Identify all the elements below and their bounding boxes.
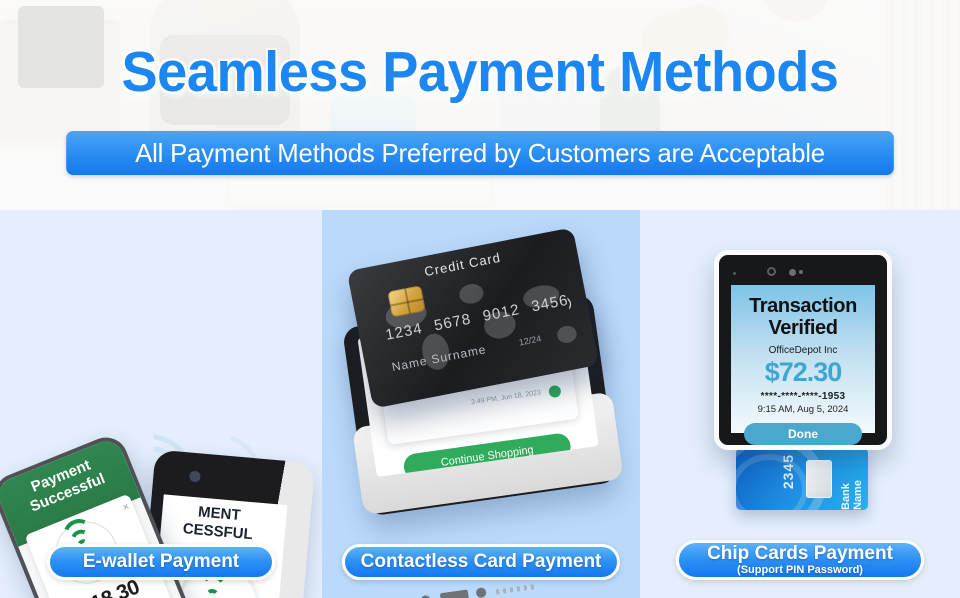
pill-label: E-wallet Payment xyxy=(83,551,239,573)
transaction-timestamp: 9:15 AM, Aug 5, 2024 xyxy=(731,404,875,415)
e-wallet-illustration: MENT CESSFUL NFC Payment xyxy=(0,210,322,598)
merchant-name: OfficeDepot Inc xyxy=(731,345,875,356)
payment-methods-banner: Seamless Payment Methods All Payment Met… xyxy=(0,0,960,598)
contactless-icon xyxy=(554,295,573,314)
pill-label: Contactless Card Payment xyxy=(361,551,602,573)
amount: $72.30 xyxy=(731,357,875,388)
sensor-icon xyxy=(799,270,803,274)
pill-sublabel: (Support PIN Password) xyxy=(737,564,863,577)
panel-chip-cards: 2345 Bank Name Transaction Verified Offi… xyxy=(640,210,960,598)
page-title: Seamless Payment Methods xyxy=(24,40,936,104)
chip-bank-card: 2345 Bank Name xyxy=(736,448,868,510)
hero-overlay xyxy=(0,0,960,210)
bank-name-label: Bank Name xyxy=(840,452,864,510)
done-button[interactable]: Done xyxy=(744,423,862,445)
camera-icon xyxy=(767,267,776,276)
hero-subtitle-bar: All Payment Methods Preferred by Custome… xyxy=(66,131,894,175)
transaction-title: Transaction Verified xyxy=(731,295,875,339)
chip-terminal-device: Transaction Verified OfficeDepot Inc $72… xyxy=(714,250,892,450)
pill-label: Chip Cards Payment xyxy=(707,544,893,564)
usb-port-icon xyxy=(440,590,469,598)
emv-chip-icon xyxy=(806,460,832,498)
pill-contactless-card-payment[interactable]: Contactless Card Payment xyxy=(342,544,620,580)
card-number-fragment: 2345 xyxy=(780,454,796,489)
status-badge xyxy=(548,385,562,399)
speaker-grill-icon xyxy=(496,584,536,595)
camera-lens-icon xyxy=(189,471,201,483)
transaction-date: 3:49 PM, Jun 18, 2023 xyxy=(471,389,542,406)
hero-header: Seamless Payment Methods All Payment Met… xyxy=(0,0,960,210)
masked-card-number: ****-****-****-1953 xyxy=(731,391,875,402)
panel-e-wallet: MENT CESSFUL NFC Payment xyxy=(0,210,322,598)
pill-e-wallet-payment[interactable]: E-wallet Payment xyxy=(47,544,275,580)
terminal-screen: Transaction Verified OfficeDepot Inc $72… xyxy=(731,285,875,433)
panel-contactless-card: Fashion Hub $129.99 ****-****-****-4567 … xyxy=(322,210,640,598)
hero-subtitle-text: All Payment Methods Preferred by Custome… xyxy=(135,138,825,169)
pill-chip-cards-payment[interactable]: Chip Cards Payment (Support PIN Password… xyxy=(676,540,924,580)
led-indicator-icon xyxy=(733,272,736,275)
payment-method-panels: MENT CESSFUL NFC Payment xyxy=(0,210,960,598)
sensor-icon xyxy=(789,269,796,276)
